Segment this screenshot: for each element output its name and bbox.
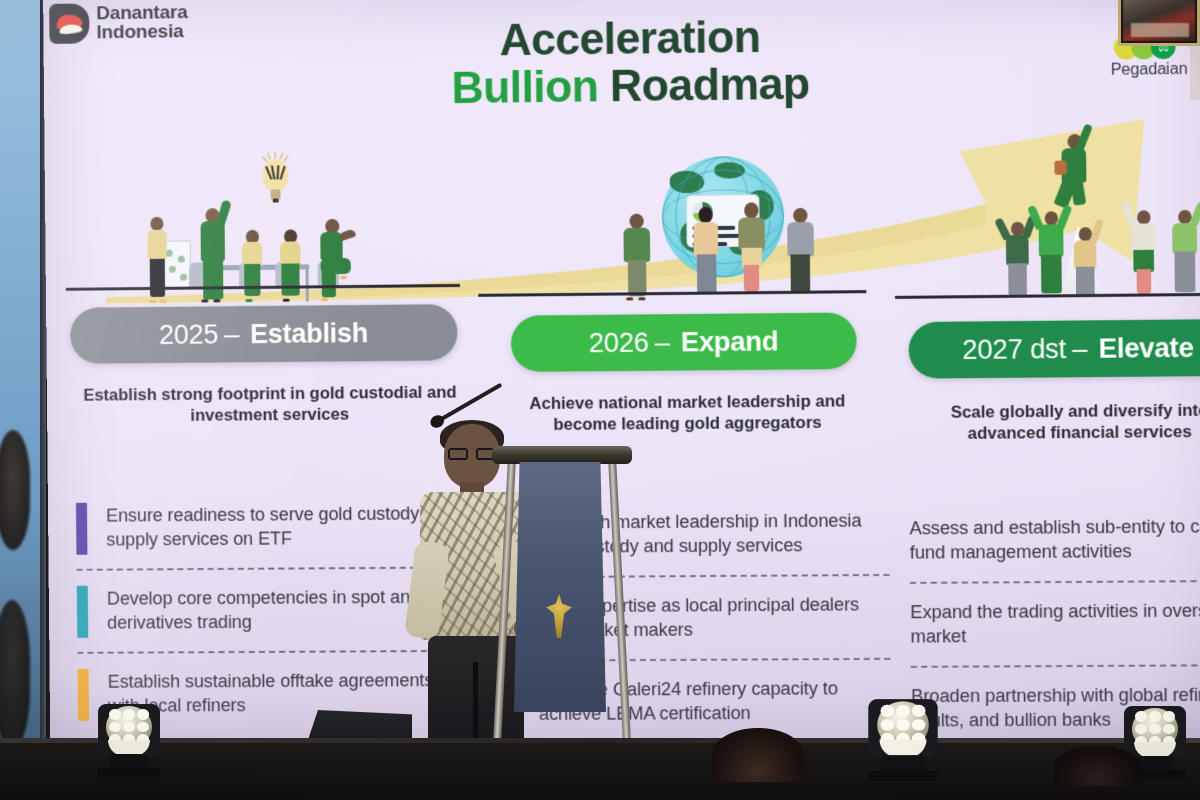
hero-illustration-band (44, 108, 1200, 308)
room-left-wall (0, 0, 42, 800)
celebrating-people-growth-arrow-illustration (996, 124, 1200, 299)
global-network-globe-illustration (615, 149, 850, 301)
phase-name-expand: Expand (681, 326, 779, 358)
conference-stage-scene: Danantara Indonesia ⚖ Pegadaian Accelera… (0, 0, 1200, 800)
phase-pill-2026[interactable]: 2026 – Expand (511, 312, 857, 372)
podium-banner (514, 462, 606, 712)
phase-name-elevate: Elevate (1098, 332, 1193, 364)
title-roadmap-word: Roadmap (610, 59, 810, 111)
stage-floor (0, 738, 1200, 800)
phase-year-2026: 2026 (589, 327, 649, 359)
audience-head-foreground (712, 728, 804, 782)
list-item[interactable]: Ensure readiness to serve gold custody &… (76, 485, 467, 569)
category-marker-gold-supply (78, 668, 90, 720)
eyeglasses-icon (448, 448, 498, 460)
phase-subtitle-2027: Scale globally and diversify into advanc… (912, 400, 1200, 446)
slide-title: Acceleration Bullion Roadmap (43, 9, 1200, 118)
background-blur-object (0, 430, 30, 550)
list-item[interactable]: Expand the trading activities in oversea… (910, 582, 1200, 666)
stage-light-center-right (862, 695, 945, 782)
title-line-1: Acceleration (499, 13, 760, 66)
title-bullion-word: Bullion (451, 62, 598, 113)
phase-dash-3: – (1072, 333, 1087, 365)
list-item[interactable]: Assess and establish sub-entity to cater… (909, 498, 1200, 582)
stage-light-left (92, 700, 166, 778)
wall-strip (1190, 40, 1200, 100)
background-blur-object-2 (0, 600, 30, 750)
podium-top (492, 446, 632, 464)
phase-dash-1: – (224, 319, 239, 350)
framed-portrait (1118, 0, 1200, 46)
phase-dash-2: – (655, 327, 670, 358)
phase-pill-row: 2025 – Establish 2026 – Expand 2027 dst … (46, 291, 1200, 372)
category-marker-gold-custody (76, 502, 88, 554)
phase-subtitle-2025: Establish strong footprint in gold custo… (83, 383, 457, 429)
initiative-text: Assess and establish sub-entity to cater… (909, 515, 1200, 564)
phase-year-2027: 2027 dst (962, 333, 1066, 365)
phase-subtitle-2026: Achieve national market leadership and b… (512, 391, 864, 437)
phase-year-2025: 2025 (159, 319, 218, 351)
phase-name-establish: Establish (250, 317, 368, 349)
audience-head-foreground-2 (1054, 746, 1140, 786)
initiative-text: Expand the trading activities in oversea… (910, 600, 1200, 648)
phase-pill-2027[interactable]: 2027 dst – Elevate (909, 319, 1200, 379)
category-marker-trading-derivative (77, 585, 89, 637)
brand-line-1: Danantara (96, 3, 188, 24)
initiative-text: Ensure readiness to serve gold custody &… (106, 503, 467, 552)
lightbulb-icon (258, 159, 293, 206)
podium-with-emblem (500, 446, 624, 766)
phase-pill-2025[interactable]: 2025 – Establish (70, 304, 458, 364)
